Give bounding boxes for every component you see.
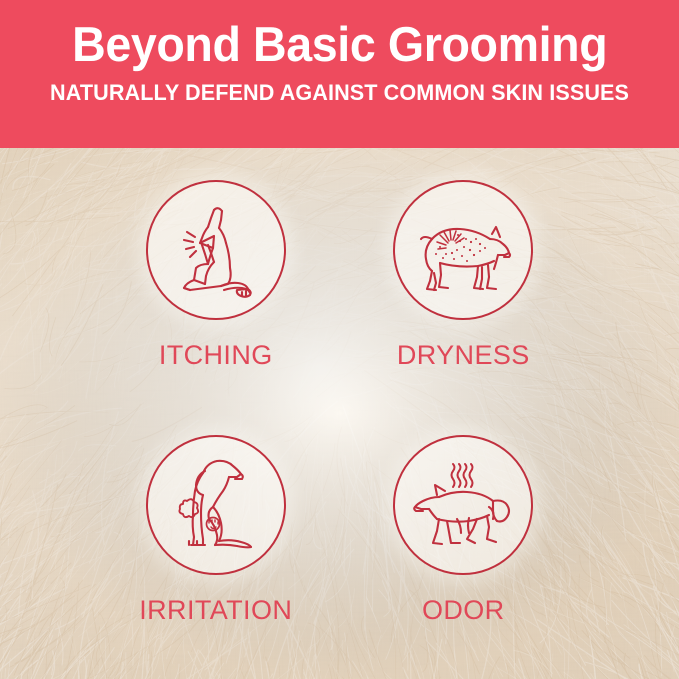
dog-scratching-glyph <box>164 198 268 302</box>
badge-label-dryness: DRYNESS <box>397 340 530 371</box>
dog-irritated-skin-icon <box>146 435 286 575</box>
dog-dry-skin-glyph <box>410 197 516 303</box>
badge-itching: ITCHING <box>92 162 340 411</box>
header-banner: Beyond Basic Grooming NATURALLY DEFEND A… <box>0 0 679 148</box>
badge-odor: ODOR <box>340 411 588 660</box>
dog-irritated-skin-glyph <box>165 451 267 559</box>
dog-scratching-icon <box>146 180 286 320</box>
badge-label-odor: ODOR <box>422 595 505 626</box>
dog-dry-skin-icon <box>393 180 533 320</box>
page-subtitle: NATURALLY DEFEND AGAINST COMMON SKIN ISS… <box>50 82 629 105</box>
benefit-badge-grid: ITCHING <box>0 148 679 679</box>
dog-odor-icon <box>393 435 533 575</box>
badge-irritation: IRRITATION <box>92 411 340 660</box>
badge-label-itching: ITCHING <box>159 340 273 371</box>
dog-odor-glyph <box>409 453 517 557</box>
poster-canvas: Beyond Basic Grooming NATURALLY DEFEND A… <box>0 0 679 679</box>
badge-label-irritation: IRRITATION <box>139 595 292 626</box>
page-title: Beyond Basic Grooming <box>72 20 607 71</box>
badge-dryness: DRYNESS <box>340 162 588 411</box>
